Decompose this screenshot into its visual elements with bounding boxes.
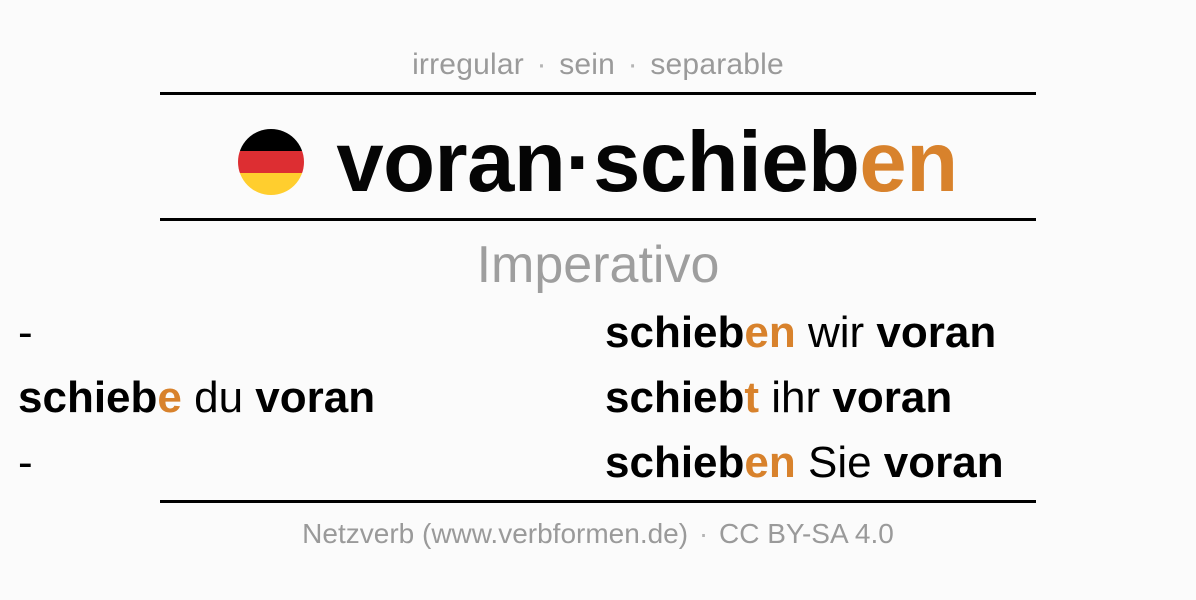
- form-particle: voran: [832, 373, 952, 422]
- verb-conjugation-card: irregular · sein · separable voran·schie…: [0, 0, 1196, 600]
- table-row: - schieben Sie voran: [0, 430, 1196, 495]
- tense-subtitle: Imperativo: [0, 235, 1196, 295]
- conjugation-cell-right-2: schiebt ihr voran: [0, 376, 611, 420]
- form-particle: voran: [876, 308, 996, 357]
- title-prefix: voran: [336, 115, 565, 210]
- form-ending: en: [744, 438, 795, 487]
- conjugation-cell-right-1: schieben wir voran: [0, 311, 611, 355]
- divider-top: [160, 92, 1036, 95]
- footer-source: Netzverb (www.verbformen.de): [302, 518, 688, 549]
- table-row: schiebe du voran schiebt ihr voran: [0, 365, 1196, 430]
- form-stem: schieb: [605, 308, 744, 357]
- form-pronoun: Sie: [796, 438, 884, 487]
- attribute-separator-1: ·: [532, 48, 550, 81]
- form-particle: voran: [884, 438, 1004, 487]
- title-ending: en: [859, 115, 957, 210]
- verb-attributes-line: irregular · sein · separable: [0, 48, 1196, 82]
- attribute-separable: separable: [650, 48, 784, 81]
- german-flag-icon: [238, 129, 304, 195]
- form-stem: schieb: [605, 438, 744, 487]
- page-title: voran·schieben: [336, 120, 957, 205]
- conjugation-cell-right-3: schieben Sie voran: [0, 441, 611, 485]
- footer-license: CC BY-SA 4.0: [719, 518, 894, 549]
- divider-bottom: [160, 500, 1036, 503]
- footer-separator: ·: [696, 518, 711, 549]
- divider-middle: [160, 218, 1036, 221]
- attribute-separator-2: ·: [624, 48, 642, 81]
- footer-attribution: Netzverb (www.verbformen.de) · CC BY-SA …: [0, 518, 1196, 550]
- form-ending: t: [744, 373, 759, 422]
- verb-title-row: voran·schieben: [160, 108, 1036, 216]
- form-pronoun: wir: [796, 308, 877, 357]
- flag-band-black: [238, 129, 304, 151]
- conjugation-table: - schieben wir voran schiebe du voran sc…: [0, 300, 1196, 495]
- form-stem: schieb: [605, 373, 744, 422]
- title-stem: schieb: [593, 115, 859, 210]
- attribute-auxiliary: sein: [559, 48, 615, 81]
- flag-band-gold: [238, 173, 304, 195]
- attribute-irregular: irregular: [412, 48, 524, 81]
- form-pronoun: ihr: [759, 373, 832, 422]
- form-ending: en: [744, 308, 795, 357]
- flag-band-red: [238, 151, 304, 173]
- table-row: - schieben wir voran: [0, 300, 1196, 365]
- title-separator-dot: ·: [565, 115, 593, 210]
